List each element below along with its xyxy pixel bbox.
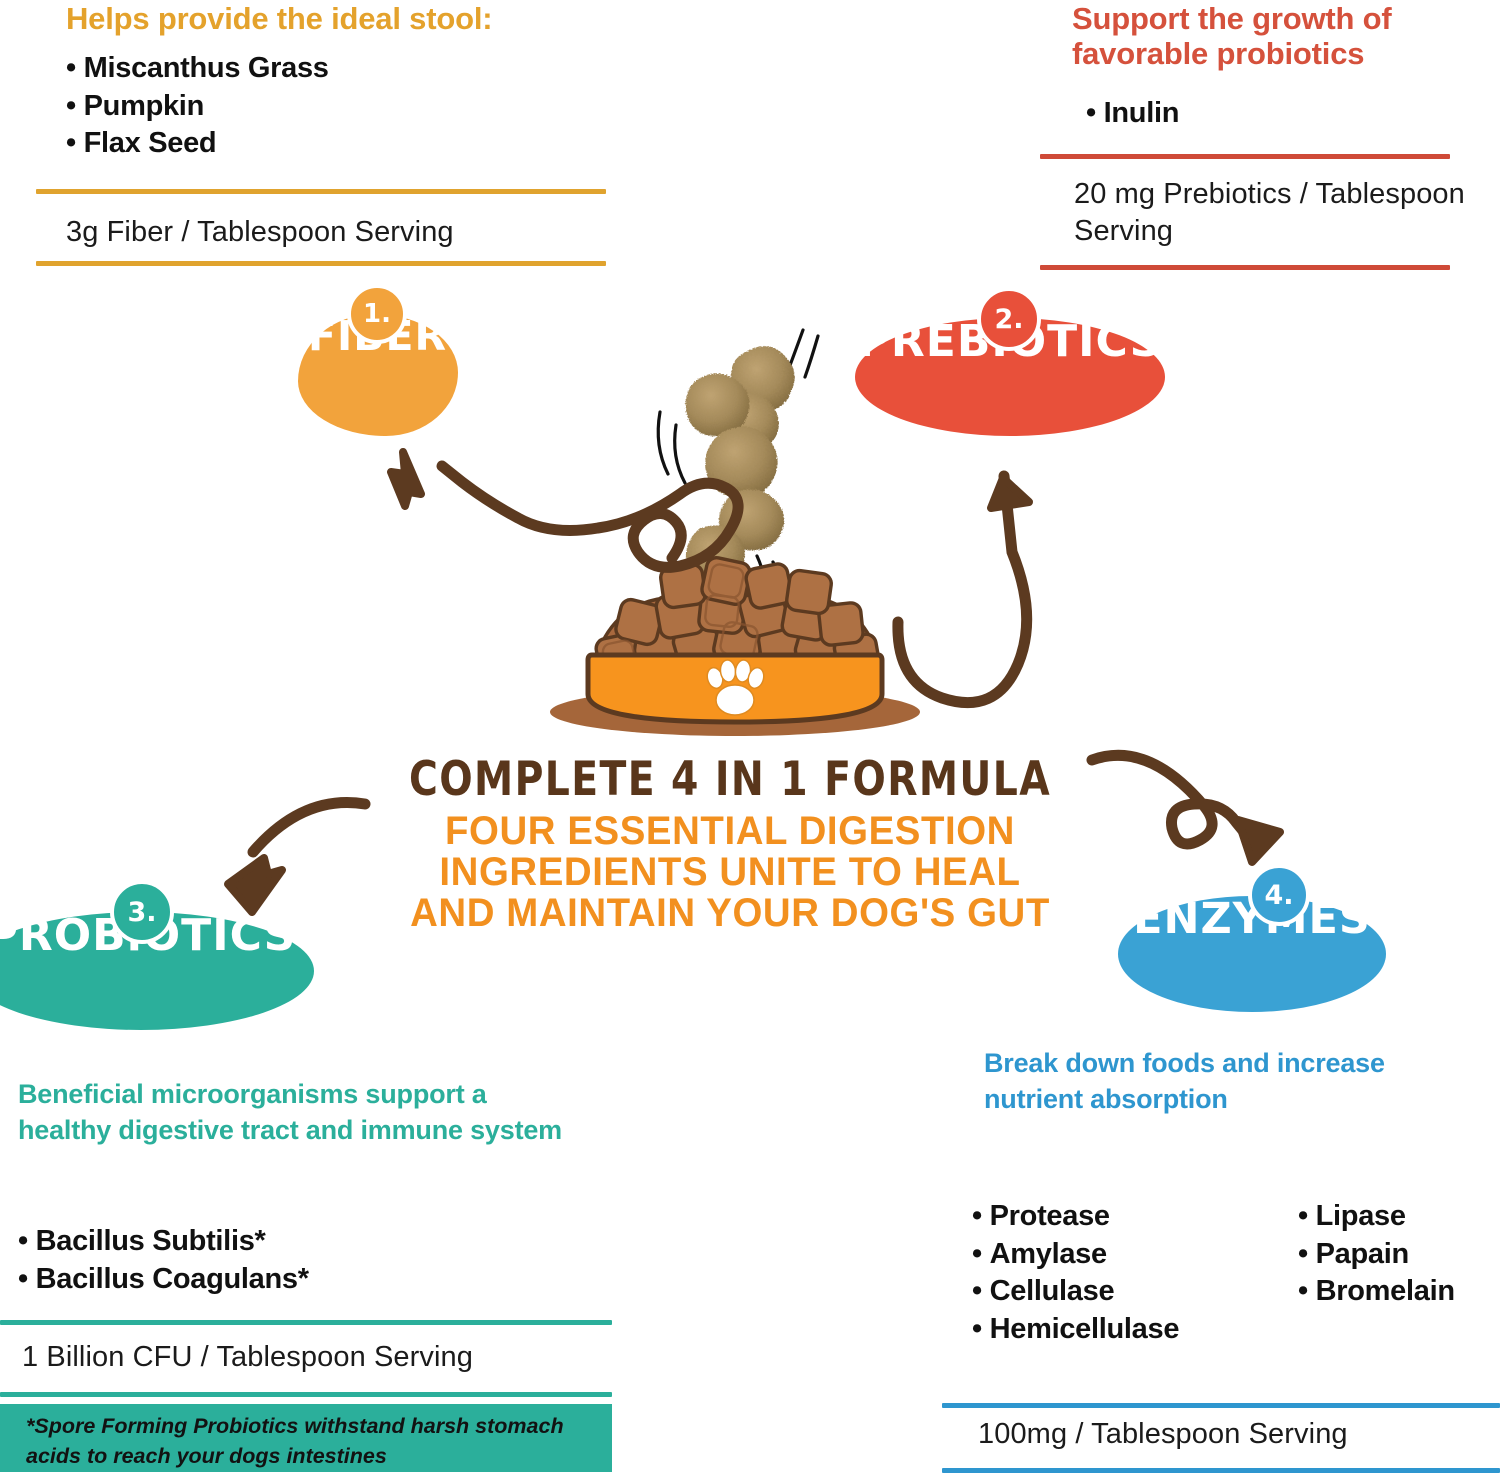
badge-fiber[interactable]: 1. FIBER — [290, 286, 465, 436]
badge-probiotics[interactable]: 3. PROBiOTICS — [0, 880, 314, 1030]
bullet: • — [1298, 1200, 1316, 1232]
bullet: • — [972, 1313, 990, 1345]
probiotics-description: Beneficial microorganisms support a heal… — [18, 1077, 578, 1148]
enzymes-divider-top — [942, 1403, 1500, 1408]
list-item: • Amylase — [972, 1236, 1179, 1274]
bullet: • — [1298, 1275, 1316, 1307]
enzymes-serving-amount: 100mg / Tablespoon Serving — [978, 1418, 1348, 1451]
subtitle-line: FOUR ESSENTIAL DIGESTION — [394, 811, 1066, 852]
probiotics-serving-amount: 1 Billion CFU / Tablespoon Serving — [22, 1341, 473, 1374]
fiber-divider-top — [36, 189, 606, 194]
bullet: • — [66, 127, 84, 159]
center-headline: COMPLETE 4 IN 1 FORMULA FOUR ESSENTIAL D… — [380, 752, 1080, 933]
probiotics-ingredient-list: • Bacillus Subtilis* • Bacillus Coagulan… — [18, 1223, 309, 1298]
dog-food-bowl — [550, 556, 920, 736]
list-item: • Flax Seed — [66, 125, 329, 163]
probiotics-divider-top — [0, 1320, 612, 1325]
infographic-canvas: Helps provide the ideal stool: • Miscant… — [0, 0, 1500, 1472]
enzymes-divider-bottom — [942, 1468, 1500, 1473]
enzymes-description: Break down foods and increase nutrient a… — [984, 1046, 1414, 1118]
arrow-to-prebiotics-head — [991, 478, 1029, 508]
bullet: • — [18, 1263, 36, 1295]
probiotics-footnote-text: *Spore Forming Probiotics withstand hars… — [26, 1412, 594, 1471]
bullet: • — [1086, 97, 1104, 129]
center-subtitle: FOUR ESSENTIAL DIGESTION INGREDIENTS UNI… — [380, 811, 1080, 933]
probiotics-footnote-box: *Spore Forming Probiotics withstand hars… — [0, 1404, 612, 1472]
arrow-to-fiber-head — [391, 452, 421, 506]
list-item: • Papain — [1298, 1236, 1455, 1274]
bullet: • — [972, 1238, 990, 1270]
badge-number: 4. — [1248, 864, 1310, 926]
prebiotics-heading: Support the growth of favorable probioti… — [1072, 2, 1492, 71]
fiber-serving-amount: 3g Fiber / Tablespoon Serving — [66, 216, 454, 249]
arrow-to-enzymes-head — [1238, 820, 1280, 862]
arrow-to-probiotics — [253, 803, 365, 852]
arrow-to-prebiotics — [898, 476, 1027, 703]
prebiotics-ingredient-list: • Inulin — [1086, 95, 1179, 133]
bullet: • — [18, 1225, 36, 1257]
badge-number: 1. — [347, 284, 407, 344]
bullet: • — [66, 90, 84, 122]
subtitle-line: AND MAINTAIN YOUR DOG'S GUT — [394, 893, 1066, 934]
bullet: • — [972, 1275, 990, 1307]
list-item: • Cellulase — [972, 1273, 1179, 1311]
page-title: COMPLETE 4 IN 1 FORMULA — [405, 752, 1056, 807]
list-item: • Bacillus Coagulans* — [18, 1261, 309, 1299]
bullet: • — [66, 52, 84, 84]
subtitle-line: INGREDIENTS UNITE TO HEAL — [394, 852, 1066, 893]
prebiotics-divider-bottom — [1040, 265, 1450, 270]
arrow-to-enzymes — [1092, 755, 1254, 844]
fiber-divider-bottom — [36, 261, 606, 266]
fiber-heading: Helps provide the ideal stool: — [66, 2, 492, 37]
list-item: • Bromelain — [1298, 1273, 1455, 1311]
list-item: • Pumpkin — [66, 88, 329, 126]
falling-kibble — [686, 346, 795, 585]
enzymes-ingredient-list-right: • Lipase • Papain • Bromelain — [1298, 1198, 1455, 1311]
list-item: • Bacillus Subtilis* — [18, 1223, 309, 1261]
list-item: • Lipase — [1298, 1198, 1455, 1236]
bullet: • — [1298, 1238, 1316, 1270]
probiotics-divider-bottom — [0, 1392, 612, 1397]
prebiotics-divider-top — [1040, 154, 1450, 159]
enzymes-ingredient-list-left: • Protease • Amylase • Cellulase • Hemic… — [972, 1198, 1179, 1349]
fiber-ingredient-list: • Miscanthus Grass • Pumpkin • Flax Seed — [66, 50, 329, 163]
bullet: • — [972, 1200, 990, 1232]
badge-prebiotics[interactable]: 2. PREBIOTICS — [855, 288, 1165, 438]
badge-number: 2. — [977, 287, 1041, 351]
list-item: • Hemicellulase — [972, 1311, 1179, 1349]
list-item: • Miscanthus Grass — [66, 50, 329, 88]
badge-enzymes[interactable]: 4. ENZYMES — [1118, 866, 1386, 1016]
prebiotics-serving-amount: 20 mg Prebiotics / Tablespoon Serving — [1074, 176, 1474, 250]
list-item: • Inulin — [1086, 95, 1179, 133]
list-item: • Protease — [972, 1198, 1179, 1236]
badge-number: 3. — [110, 880, 174, 944]
